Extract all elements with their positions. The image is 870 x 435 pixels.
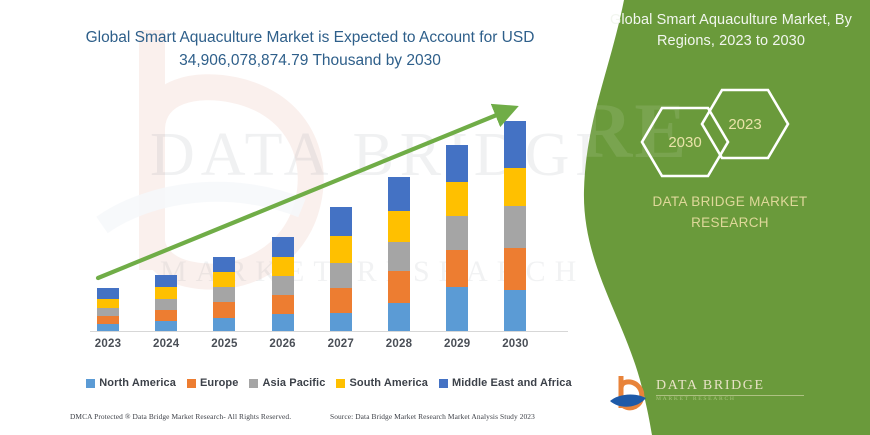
dbmr-logo-line1: DATA BRIDGE (656, 378, 765, 394)
legend-swatch-icon (187, 379, 196, 388)
infographic-root: DATA BRIDGE MARKET RESEARCH Global Smart… (0, 0, 870, 435)
brand-panel-content: RE Global Smart Aquaculture Market, By R… (580, 0, 870, 435)
legend-swatch-icon (86, 379, 95, 388)
panel-brand-line1: DATA BRIDGE MARKET (610, 192, 850, 213)
bar-segment-2028-middle-east-and-africa (388, 177, 410, 211)
bar-segment-2024-asia-pacific (155, 299, 177, 310)
legend-label: Middle East and Africa (452, 377, 572, 389)
bar-2024 (155, 275, 177, 331)
x-axis-label-2028: 2028 (369, 338, 429, 350)
bar-segment-2023-middle-east-and-africa (97, 288, 119, 299)
bar-segment-2027-south-america (330, 236, 352, 263)
bar-segment-2029-south-america (446, 182, 468, 216)
footer-source: Source: Data Bridge Market Research Mark… (330, 412, 535, 421)
bar-2026 (272, 237, 294, 331)
bar-segment-2024-north-america (155, 321, 177, 331)
panel-brand-name: DATA BRIDGE MARKET RESEARCH (610, 192, 850, 234)
bar-segment-2027-europe (330, 288, 352, 313)
bar-segment-2026-south-america (272, 257, 294, 276)
bar-segment-2030-north-america (504, 290, 526, 331)
x-axis-label-2026: 2026 (253, 338, 313, 350)
bar-segment-2030-middle-east-and-africa (504, 121, 526, 168)
bar-segment-2030-south-america (504, 168, 526, 206)
legend-swatch-icon (249, 379, 258, 388)
hexagon-group: 2023 2030 (640, 88, 840, 178)
bar-segment-2025-europe (213, 302, 235, 318)
bar-segment-2028-asia-pacific (388, 242, 410, 271)
bar-segment-2025-middle-east-and-africa (213, 257, 235, 272)
x-axis-label-2023: 2023 (78, 338, 138, 350)
bar-segment-2024-europe (155, 310, 177, 321)
chart-legend: North AmericaEuropeAsia PacificSouth Ame… (84, 374, 574, 392)
legend-swatch-icon (439, 379, 448, 388)
dbmr-logo-mark-icon (608, 374, 650, 414)
legend-item-north-america[interactable]: North America (86, 377, 176, 389)
dbmr-logo-divider (656, 395, 804, 396)
legend-swatch-icon (336, 379, 345, 388)
legend-item-asia-pacific[interactable]: Asia Pacific (249, 377, 325, 389)
x-axis-label-2029: 2029 (427, 338, 487, 350)
legend-label: South America (349, 377, 428, 389)
bar-segment-2029-europe (446, 250, 468, 287)
bar-segment-2028-south-america (388, 211, 410, 242)
hexagon-2030: 2030 (640, 106, 730, 178)
bar-2027 (330, 207, 352, 331)
chart-area: DATA BRIDGE MARKET RESEARCH Global Smart… (0, 0, 620, 435)
bar-segment-2029-middle-east-and-africa (446, 145, 468, 182)
stacked-bar-chart: 20232024202520262027202820292030 (0, 0, 620, 435)
legend-label: Europe (200, 377, 239, 389)
x-axis-label-2024: 2024 (136, 338, 196, 350)
footer-copyright: DMCA Protected ® Data Bridge Market Rese… (70, 412, 291, 421)
dbmr-logo-text: DATA BRIDGE MARKET RESEARCH (656, 378, 765, 402)
bar-segment-2029-asia-pacific (446, 216, 468, 250)
footer: DMCA Protected ® Data Bridge Market Rese… (0, 412, 620, 432)
bar-segment-2029-north-america (446, 287, 468, 331)
x-axis-label-2027: 2027 (311, 338, 371, 350)
bar-segment-2025-asia-pacific (213, 287, 235, 302)
bar-segment-2025-south-america (213, 272, 235, 287)
bar-segment-2026-north-america (272, 314, 294, 331)
bar-segment-2026-middle-east-and-africa (272, 237, 294, 257)
bar-segment-2027-north-america (330, 313, 352, 331)
bar-2028 (388, 177, 410, 331)
x-axis-line (90, 331, 568, 332)
bar-segment-2023-asia-pacific (97, 308, 119, 316)
panel-brand-line2: RESEARCH (610, 213, 850, 234)
bar-segment-2023-north-america (97, 324, 119, 331)
bar-segment-2026-europe (272, 295, 294, 314)
bar-segment-2026-asia-pacific (272, 276, 294, 295)
bar-2029 (446, 145, 468, 331)
bar-2023 (97, 288, 119, 331)
trend-arrow-icon (80, 95, 540, 295)
bar-segment-2028-europe (388, 271, 410, 303)
x-axis-label-2025: 2025 (194, 338, 254, 350)
legend-item-middle-east-and-africa[interactable]: Middle East and Africa (439, 377, 572, 389)
bar-segment-2030-europe (504, 248, 526, 290)
panel-title: Global Smart Aquaculture Market, By Regi… (606, 10, 856, 52)
legend-item-south-america[interactable]: South America (336, 377, 428, 389)
bar-2030 (504, 121, 526, 331)
brand-panel: RE Global Smart Aquaculture Market, By R… (580, 0, 870, 435)
dbmr-logo-line2: MARKET RESEARCH (656, 396, 765, 402)
dbmr-logo: DATA BRIDGE MARKET RESEARCH (608, 370, 858, 420)
bar-segment-2023-south-america (97, 299, 119, 308)
legend-label: Asia Pacific (262, 377, 325, 389)
bar-segment-2023-europe (97, 316, 119, 324)
bar-segment-2027-middle-east-and-africa (330, 207, 352, 236)
legend-item-europe[interactable]: Europe (187, 377, 239, 389)
bar-segment-2025-north-america (213, 318, 235, 331)
bar-2025 (213, 257, 235, 331)
bar-segment-2027-asia-pacific (330, 263, 352, 288)
bar-segment-2030-asia-pacific (504, 206, 526, 248)
bar-segment-2024-middle-east-and-africa (155, 275, 177, 287)
x-axis-label-2030: 2030 (485, 338, 545, 350)
bar-segment-2028-north-america (388, 303, 410, 331)
hexagon-2030-label: 2030 (640, 106, 730, 178)
bar-segment-2024-south-america (155, 287, 177, 299)
legend-label: North America (99, 377, 176, 389)
